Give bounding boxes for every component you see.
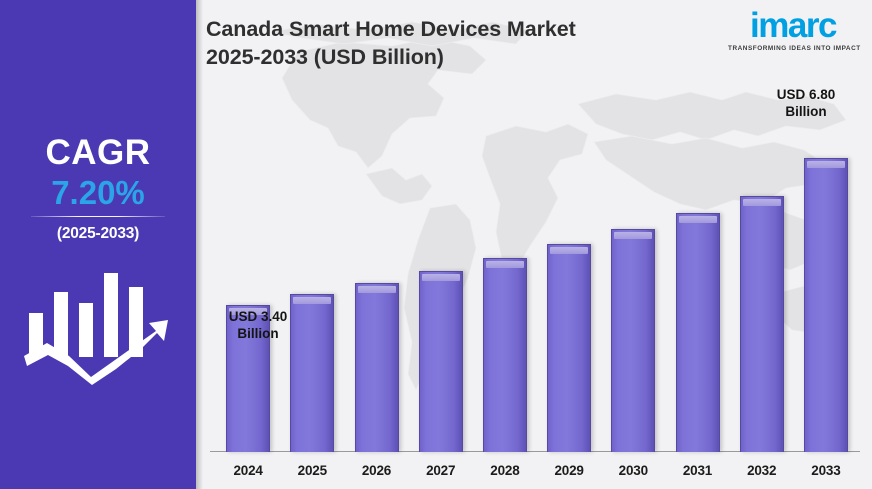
imarc-logo: imarc TRANSFORMING IDEAS INTO IMPACT bbox=[728, 8, 858, 52]
x-axis-label-2024: 2024 bbox=[216, 463, 280, 478]
x-axis-label-2027: 2027 bbox=[409, 463, 473, 478]
cagr-value: 7.20% bbox=[0, 173, 196, 213]
bar-2027 bbox=[419, 271, 463, 452]
x-axis-label-2028: 2028 bbox=[473, 463, 537, 478]
cagr-divider bbox=[31, 216, 165, 217]
x-axis-label-2029: 2029 bbox=[537, 463, 601, 478]
chart-panel: Canada Smart Home Devices Market 2025-20… bbox=[196, 0, 872, 489]
bar-2030 bbox=[611, 229, 655, 452]
page-title: Canada Smart Home Devices Market 2025-20… bbox=[206, 16, 576, 72]
page-title-line2: 2025-2033 (USD Billion) bbox=[206, 45, 444, 69]
cagr-panel: CAGR 7.20% (2025-2033) bbox=[0, 0, 196, 489]
infographic-root: CAGR 7.20% (2025-2033) bbox=[0, 0, 872, 489]
bar-chart-plot: 2024202520262027202820292030203120322033 bbox=[196, 0, 872, 489]
bar-2033 bbox=[804, 158, 848, 452]
logo-wordmark: imarc bbox=[750, 8, 836, 43]
bar-2028 bbox=[483, 258, 527, 452]
x-axis-label-2032: 2032 bbox=[730, 463, 794, 478]
first-bar-value-label: USD 3.40 Billion bbox=[204, 308, 312, 343]
logo-tagline: TRANSFORMING IDEAS INTO IMPACT bbox=[728, 45, 858, 52]
x-axis-label-2025: 2025 bbox=[280, 463, 344, 478]
last-bar-value-label: USD 6.80 Billion bbox=[752, 86, 860, 121]
cagr-block: CAGR 7.20% (2025-2033) bbox=[0, 135, 196, 243]
bar-chart-growth-arrow-icon bbox=[23, 265, 173, 387]
cagr-period: (2025-2033) bbox=[0, 225, 196, 243]
cagr-title: CAGR bbox=[0, 135, 196, 172]
x-axis-label-2026: 2026 bbox=[344, 463, 408, 478]
bar-2029 bbox=[547, 244, 591, 452]
bar-2031 bbox=[676, 213, 720, 452]
bar-2026 bbox=[355, 283, 399, 452]
page-title-line1: Canada Smart Home Devices Market bbox=[206, 17, 576, 41]
x-axis-label-2033: 2033 bbox=[794, 463, 858, 478]
bar-2032 bbox=[740, 196, 784, 452]
x-axis-label-2031: 2031 bbox=[665, 463, 729, 478]
x-axis-label-2030: 2030 bbox=[601, 463, 665, 478]
